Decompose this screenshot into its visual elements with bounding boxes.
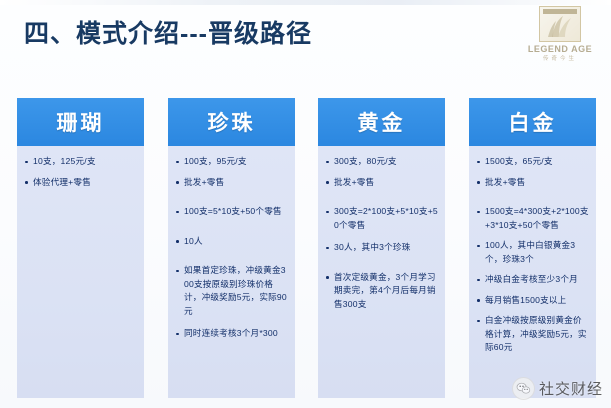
list-item: 300支，80元/支 — [325, 155, 438, 169]
watermark: 社交财经 — [512, 377, 603, 400]
page-title: 四、模式介绍---晋级路径 — [24, 14, 312, 50]
list-item: 100支=5*10支+50个零售 — [175, 205, 288, 219]
tier-columns: 珊瑚 10支，125元/支 体验代理+零售 珍珠 100支，95元/支 批发+零… — [0, 98, 611, 400]
tier-column-coral: 珊瑚 10支，125元/支 体验代理+零售 — [17, 98, 144, 398]
list-item: 30人，其中3个珍珠 — [325, 241, 438, 255]
list-item: 冲级白金考核至少3个月 — [476, 273, 589, 287]
tier-column-gold: 黄金 300支，80元/支 批发+零售 300支=2*100支+5*10支+50… — [318, 98, 445, 398]
list-item: 300支=2*100支+5*10支+50个零售 — [325, 205, 438, 232]
legend-age-leaf-mark-icon — [539, 6, 581, 42]
watermark-label: 社交财经 — [539, 378, 603, 399]
tier-header-platinum: 白金 — [469, 98, 596, 146]
brand-subtitle: 传奇今生 — [521, 55, 599, 63]
list-item: 首次定级黄金，3个月学习期卖完，第4个月后每月销售300支 — [325, 271, 438, 312]
tier-column-pearl: 珍珠 100支，95元/支 批发+零售 100支=5*10支+50个零售 10人… — [168, 98, 295, 398]
list-item: 1500支，65元/支 — [476, 155, 589, 169]
tier-body-pearl: 100支，95元/支 批发+零售 100支=5*10支+50个零售 10人 如果… — [168, 146, 295, 398]
list-item: 同时连续考核3个月*300 — [175, 327, 288, 341]
tier-body-coral: 10支，125元/支 体验代理+零售 — [17, 146, 144, 398]
tier-body-gold: 300支，80元/支 批发+零售 300支=2*100支+5*10支+50个零售… — [318, 146, 445, 398]
top-band-decoration — [0, 0, 611, 5]
list-item: 如果首定珍珠，冲级黄金300支按原级别珍珠价格计，冲级奖励5元，实际90元 — [175, 264, 288, 318]
slide-canvas: 四、模式介绍---晋级路径 LEGEND AGE 传奇今生 珊瑚 10支，125… — [0, 0, 611, 408]
tier-header-pearl: 珍珠 — [168, 98, 295, 146]
wechat-glyph — [516, 382, 531, 395]
list-item: 体验代理+零售 — [24, 176, 137, 190]
list-item: 10人 — [175, 235, 288, 249]
brand-logo: LEGEND AGE 传奇今生 — [521, 6, 599, 63]
list-item: 批发+零售 — [476, 176, 589, 190]
tier-header-gold: 黄金 — [318, 98, 445, 146]
list-item: 批发+零售 — [325, 176, 438, 190]
list-item: 白金冲级按原级别黄金价格计算，冲级奖励5元，实际60元 — [476, 314, 589, 355]
list-item: 1500支=4*300支+2*100支+3*10支+50个零售 — [476, 205, 589, 232]
list-item: 10支，125元/支 — [24, 155, 137, 169]
tier-column-platinum: 白金 1500支，65元/支 批发+零售 1500支=4*300支+2*100支… — [469, 98, 596, 398]
list-item: 100支，95元/支 — [175, 155, 288, 169]
list-item: 每月销售1500支以上 — [476, 294, 589, 308]
list-item: 批发+零售 — [175, 176, 288, 190]
leaf-mark-glyph — [540, 7, 580, 41]
brand-name: LEGEND AGE — [521, 44, 599, 55]
tier-body-platinum: 1500支，65元/支 批发+零售 1500支=4*300支+2*100支+3*… — [469, 146, 596, 398]
wechat-badge-icon — [512, 377, 535, 400]
tier-header-coral: 珊瑚 — [17, 98, 144, 146]
list-item: 100人，其中白银黄金3个，珍珠3个 — [476, 239, 589, 266]
